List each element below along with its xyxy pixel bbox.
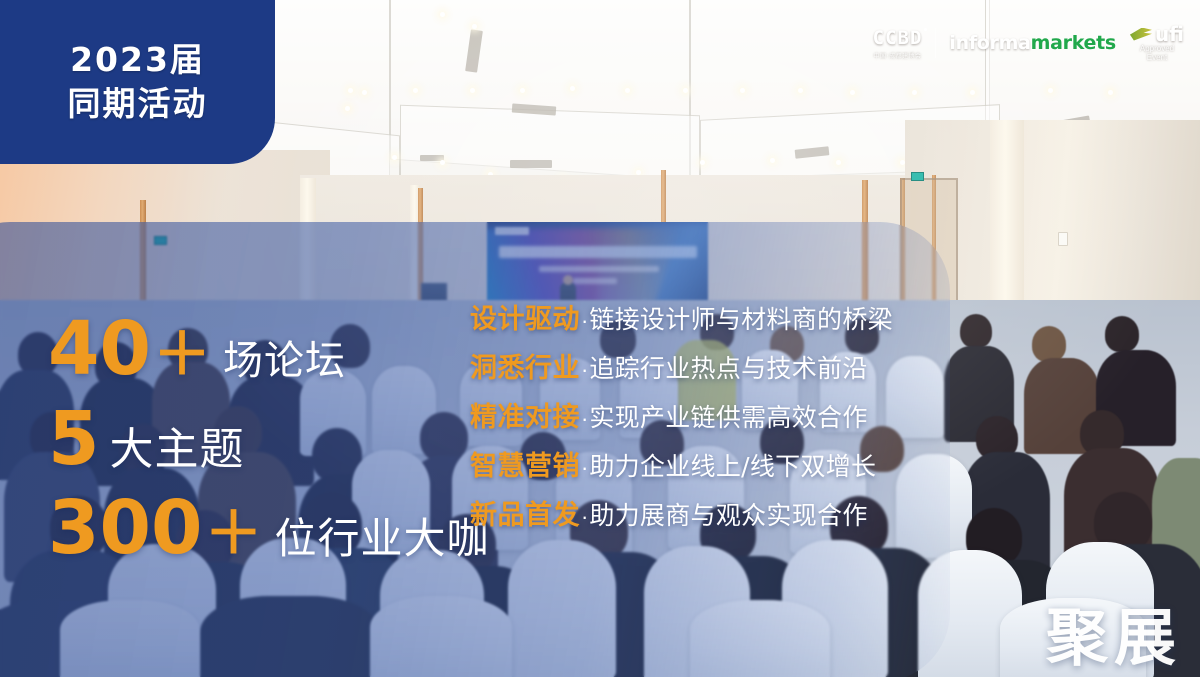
stat-number: 40 bbox=[48, 310, 151, 388]
feature-item: 洞悉行业 · 追踪行业热点与技术前沿 bbox=[470, 352, 893, 387]
informa-word: informa bbox=[949, 32, 1030, 54]
ccbd-logo-text: CCBD bbox=[873, 27, 923, 49]
feature-list: 设计驱动 · 链接设计师与材料商的桥梁 洞悉行业 · 追踪行业热点与技术前沿 精… bbox=[470, 303, 893, 534]
markets-word: markets bbox=[1031, 32, 1116, 54]
feature-key: 洞悉行业 bbox=[470, 352, 580, 386]
event-banner: 2023届 同期活动 bbox=[0, 0, 275, 164]
feature-value: 链接设计师与材料商的桥梁 bbox=[589, 303, 893, 337]
feature-item: 设计驱动 · 链接设计师与材料商的桥梁 bbox=[470, 303, 893, 338]
feature-separator: · bbox=[580, 304, 589, 338]
feature-separator: · bbox=[580, 402, 589, 436]
stat-plus-sign: ＋ bbox=[204, 494, 262, 572]
feature-value: 追踪行业热点与技术前沿 bbox=[589, 352, 867, 386]
stat-row: 300 ＋ 位行业大咖 bbox=[48, 489, 490, 578]
ufi-event-line: Event bbox=[1147, 53, 1167, 62]
stats-block: 40 ＋ 场论坛 5 大主题 300 ＋ 位行业大咖 bbox=[48, 310, 490, 578]
banner-line-1: 2023届 bbox=[70, 41, 205, 79]
ufi-approved-line: Approved bbox=[1140, 44, 1174, 53]
banner-line-2: 同期活动 bbox=[68, 85, 208, 123]
feature-value: 助力企业线上/线下双增长 bbox=[589, 450, 876, 484]
feature-separator: · bbox=[580, 500, 589, 534]
feature-separator: · bbox=[580, 353, 589, 387]
site-watermark: 聚展 bbox=[1046, 605, 1182, 671]
stat-label: 场论坛 bbox=[223, 322, 346, 400]
event-poster: 2023届 同期活动 CCBD 中国·成都建博会 informamarkets … bbox=[0, 0, 1200, 677]
stat-label: 大主题 bbox=[110, 411, 245, 489]
logo-divider bbox=[935, 28, 936, 58]
feature-key: 新品首发 bbox=[470, 499, 580, 533]
stat-row: 5 大主题 bbox=[48, 400, 490, 489]
informa-markets-logo[interactable]: informamarkets bbox=[949, 32, 1130, 54]
feature-key: 智慧营销 bbox=[470, 450, 580, 484]
stat-row: 40 ＋ 场论坛 bbox=[48, 310, 490, 400]
ufi-logo-text: ufi bbox=[1155, 25, 1184, 44]
ufi-logo[interactable]: ufi Approved Event bbox=[1130, 25, 1184, 62]
feature-value: 实现产业链供需高效合作 bbox=[589, 401, 867, 435]
feature-separator: · bbox=[580, 451, 589, 485]
stat-plus-sign: ＋ bbox=[153, 315, 211, 393]
feature-item: 新品首发 · 助力展商与观众实现合作 bbox=[470, 499, 893, 534]
feature-key: 设计驱动 bbox=[470, 303, 580, 337]
ccbd-logo[interactable]: CCBD 中国·成都建博会 bbox=[873, 27, 936, 60]
stat-number: 5 bbox=[48, 400, 100, 478]
feature-item: 精准对接 · 实现产业链供需高效合作 bbox=[470, 401, 893, 436]
ufi-swoosh-icon bbox=[1130, 28, 1152, 41]
feature-key: 精准对接 bbox=[470, 401, 580, 435]
logo-bar: CCBD 中国·成都建博会 informamarkets ufi Approve… bbox=[873, 22, 1184, 64]
feature-value: 助力展商与观众实现合作 bbox=[589, 499, 867, 533]
stat-number: 300 bbox=[48, 489, 202, 567]
stat-label: 位行业大咖 bbox=[274, 500, 489, 578]
ccbd-logo-subtitle: 中国·成都建博会 bbox=[874, 51, 922, 60]
feature-item: 智慧营销 · 助力企业线上/线下双增长 bbox=[470, 450, 893, 485]
